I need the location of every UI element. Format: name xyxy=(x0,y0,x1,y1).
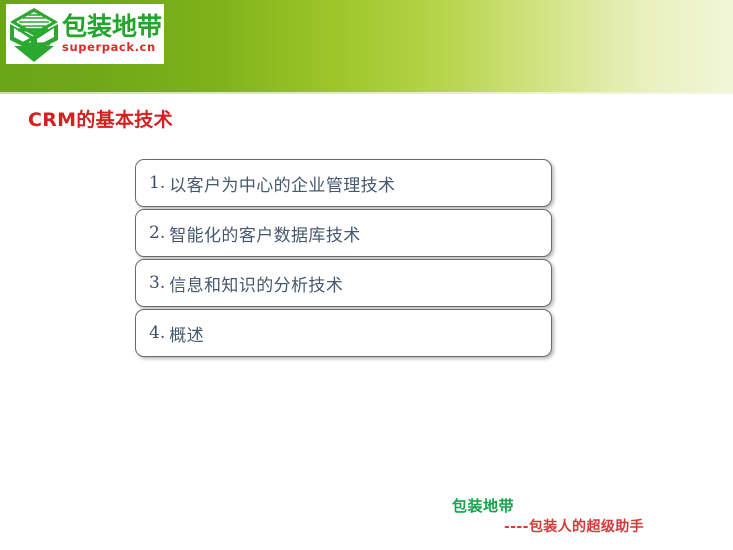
list-item[interactable]: 3. 信息和知识的分析技术 xyxy=(135,259,552,307)
list-item-number: 2. xyxy=(149,223,165,243)
list-item-number: 3. xyxy=(149,273,165,293)
list-item-number: 4. xyxy=(149,323,165,343)
header-underline xyxy=(0,92,733,94)
list-item-label: 概述 xyxy=(169,321,204,346)
logo-brand-cn: 包装地带 xyxy=(62,14,162,40)
items-list: 1. 以客户为中心的企业管理技术 2. 智能化的客户数据库技术 3. 信息和知识… xyxy=(135,159,552,359)
list-item-label: 智能化的客户数据库技术 xyxy=(169,221,360,246)
list-item[interactable]: 4. 概述 xyxy=(135,309,552,357)
list-item[interactable]: 2. 智能化的客户数据库技术 xyxy=(135,209,552,257)
list-item-label: 信息和知识的分析技术 xyxy=(169,271,343,296)
list-item-number: 1. xyxy=(149,173,165,193)
brand-logo[interactable]: 包装地带 superpack.cn xyxy=(6,4,164,64)
page-title: CRM的基本技术 xyxy=(28,105,173,132)
presentation-slide: 包装地带 superpack.cn CRM的基本技术 1. 以客户为中心的企业管… xyxy=(0,0,733,550)
list-item[interactable]: 1. 以客户为中心的企业管理技术 xyxy=(135,159,552,207)
logo-brand-url: superpack.cn xyxy=(62,41,162,54)
watermark-brand: 包装地带 xyxy=(452,495,514,516)
watermark-slogan: ----包装人的超级助手 xyxy=(504,516,644,536)
packaging-box-arrow-logo-icon xyxy=(8,6,60,62)
list-item-label: 以客户为中心的企业管理技术 xyxy=(169,171,395,196)
footer-watermark: 包装地带 ----包装人的超级助手 xyxy=(452,495,727,545)
